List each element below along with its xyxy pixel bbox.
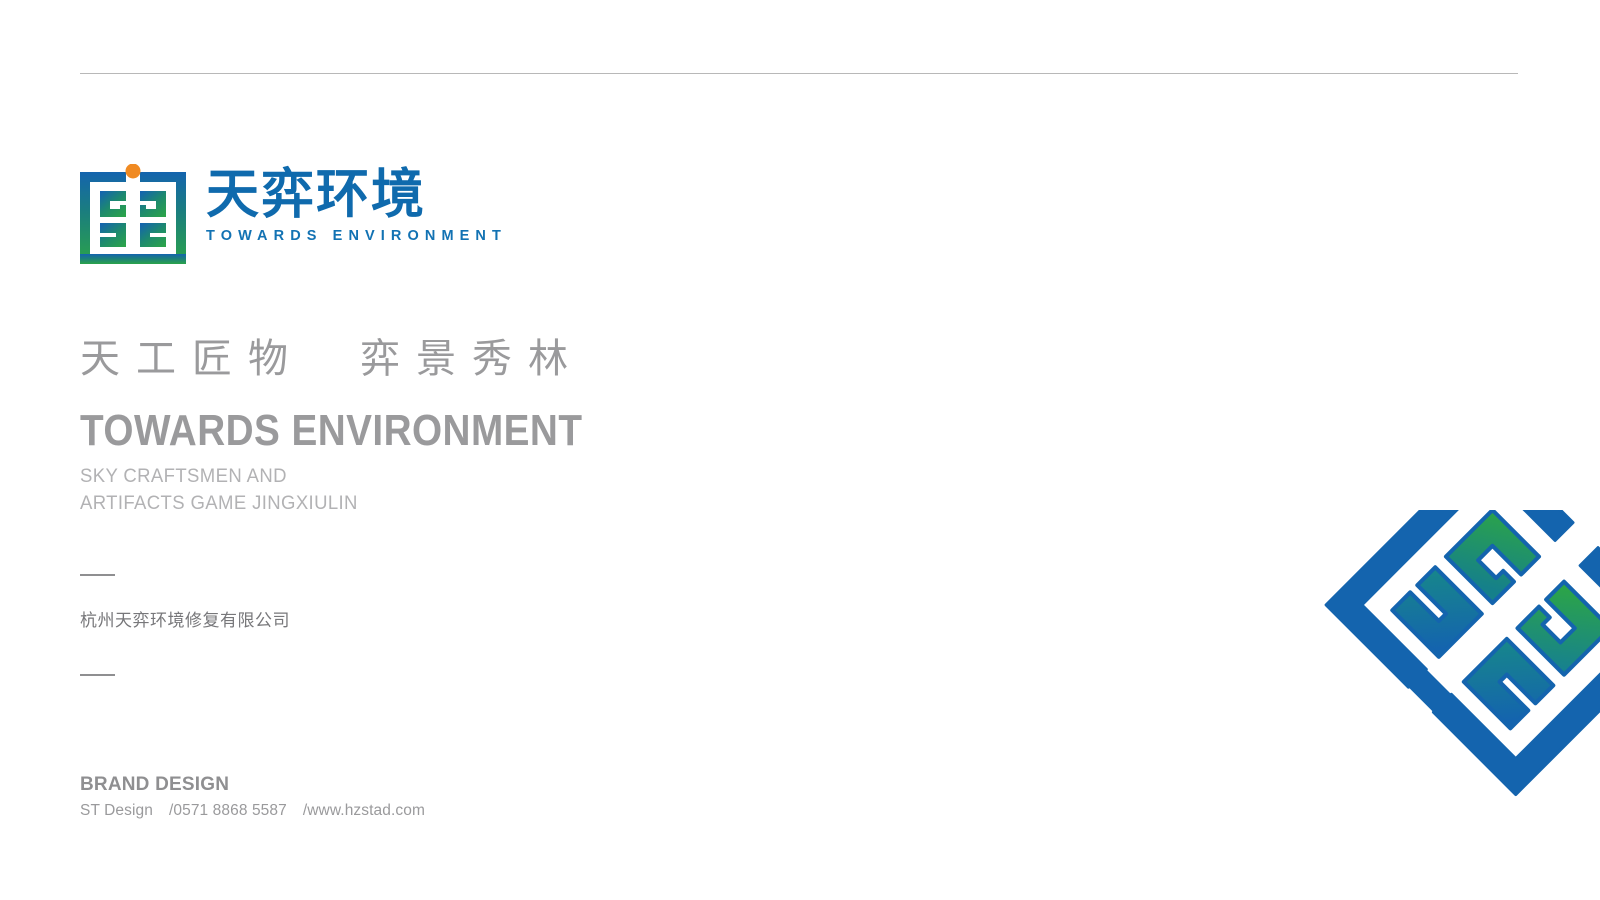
logo-wordmark: 天弈环境 TOWARDS ENVIRONMENT <box>206 164 507 244</box>
rotated-maze-mark-icon <box>1200 510 1600 900</box>
footer-website[interactable]: /www.hzstad.com <box>303 802 425 820</box>
subtitle-line-1: SKY CRAFTSMEN AND <box>80 463 358 490</box>
tagline-chinese: 天工匠物 弈景秀林 <box>80 326 584 384</box>
towards-environment-maze-mark-icon <box>80 164 186 264</box>
subtitle-english: SKY CRAFTSMEN AND ARTIFACTS GAME JINGXIU… <box>80 463 358 517</box>
divider-dash-below-company <box>80 674 115 676</box>
corner-decoration <box>1200 510 1600 900</box>
top-divider <box>80 73 1518 74</box>
brand-cover-slide: 天弈环境 TOWARDS ENVIRONMENT 天工匠物 弈景秀林 TOWAR… <box>0 0 1600 900</box>
logo-english-name: TOWARDS ENVIRONMENT <box>206 228 507 244</box>
footer-title: BRAND DESIGN <box>80 774 229 796</box>
divider-dash-above-company <box>80 574 115 576</box>
footer-studio-name: ST Design <box>80 802 153 820</box>
footer-contact-line: ST Design /0571 8868 5587 /www.hzstad.co… <box>80 802 425 820</box>
company-name-chinese: 杭州天弈环境修复有限公司 <box>80 606 290 631</box>
brand-logo-lockup: 天弈环境 TOWARDS ENVIRONMENT <box>80 164 507 264</box>
footer-phone[interactable]: /0571 8868 5587 <box>169 802 287 820</box>
logo-chinese-name: 天弈环境 <box>206 168 507 223</box>
subtitle-line-2: ARTIFACTS GAME JINGXIULIN <box>80 490 358 517</box>
headline-english: TOWARDS ENVIRONMENT <box>80 406 582 456</box>
